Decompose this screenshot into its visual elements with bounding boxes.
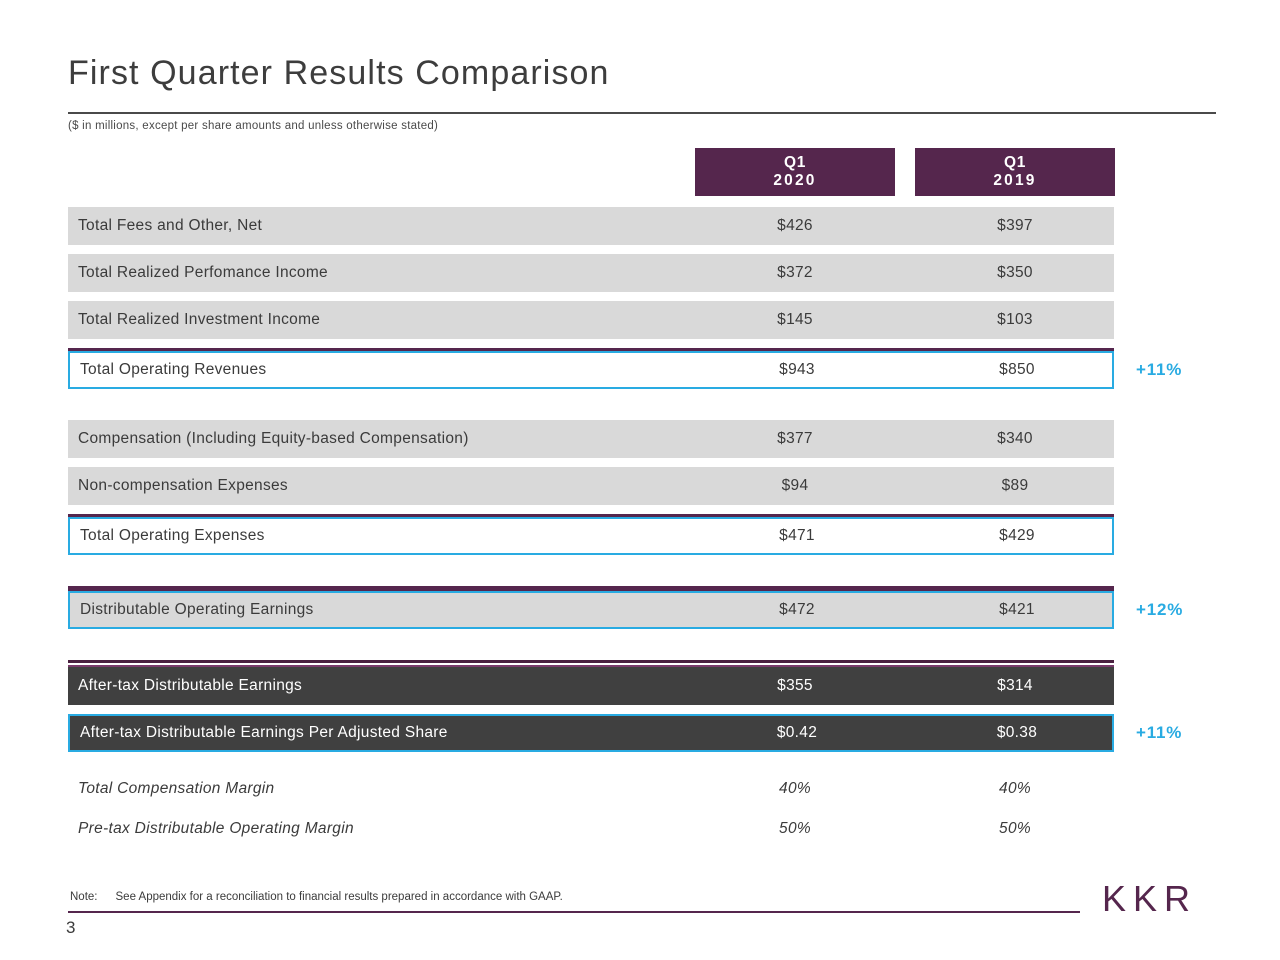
row-label: After-tax Distributable Earnings Per Adj… [80, 724, 448, 742]
table-row-distributable-operating-earnings: Distributable Operating Earnings $472 $4… [68, 591, 1114, 629]
row-value-q1-2020: $377 [695, 430, 895, 448]
row-label: Compensation (Including Equity-based Com… [78, 430, 469, 448]
row-value-q1-2020: $943 [697, 361, 897, 379]
row-label: Pre-tax Distributable Operating Margin [78, 820, 354, 838]
row-value-q1-2020: $355 [695, 677, 895, 695]
table-row-total-operating-expenses: Total Operating Expenses $471 $429 [68, 517, 1114, 555]
column-header-q1-2020: Q1 2020 [695, 148, 895, 196]
table-row: Total Realized Investment Income $145 $1… [68, 301, 1114, 339]
table-row: Compensation (Including Equity-based Com… [68, 420, 1114, 458]
section-spacer [68, 638, 1216, 660]
column-header-quarter: Q1 [784, 154, 806, 172]
row-value-q1-2019: 50% [915, 820, 1115, 838]
row-label: Total Realized Perfomance Income [78, 264, 328, 282]
row-value-q1-2020: $145 [695, 311, 895, 329]
row-value-q1-2019: $397 [915, 217, 1115, 235]
table-row-after-tax-de-per-share: After-tax Distributable Earnings Per Adj… [68, 714, 1114, 752]
row-label: Distributable Operating Earnings [80, 601, 314, 619]
page-number: 3 [66, 918, 75, 938]
title-divider [68, 112, 1216, 114]
section-spacer [68, 564, 1216, 586]
table-row: Non-compensation Expenses $94 $89 [68, 467, 1114, 505]
row-value-q1-2019: $421 [917, 601, 1117, 619]
row-value-q1-2020: $426 [695, 217, 895, 235]
row-value-q1-2020: 50% [695, 820, 895, 838]
table-row: Total Fees and Other, Net $426 $397 [68, 207, 1114, 245]
footnote-text: See Appendix for a reconciliation to fin… [116, 891, 563, 903]
column-header-q1-2019: Q1 2019 [915, 148, 1115, 196]
row-label: Total Realized Investment Income [78, 311, 320, 329]
section-spacer [68, 398, 1216, 420]
row-value-q1-2019: $340 [915, 430, 1115, 448]
column-header-year: 2020 [773, 172, 816, 190]
row-label: After-tax Distributable Earnings [78, 677, 302, 695]
row-delta-badge: +12% [1136, 600, 1183, 620]
row-label: Non-compensation Expenses [78, 477, 288, 495]
units-subtitle: ($ in millions, except per share amounts… [68, 120, 438, 132]
row-value-q1-2019: $429 [917, 527, 1117, 545]
section-divider [68, 660, 1114, 667]
footer-divider [68, 911, 1080, 913]
row-label: Total Operating Expenses [80, 527, 265, 545]
row-delta-badge: +11% [1136, 723, 1182, 743]
table-row-total-compensation-margin: Total Compensation Margin 40% 40% [68, 770, 1114, 808]
column-header-quarter: Q1 [1004, 154, 1026, 172]
row-value-q1-2019: $314 [915, 677, 1115, 695]
footnote-label: Note: [70, 891, 98, 903]
table-row: Total Realized Perfomance Income $372 $3… [68, 254, 1114, 292]
row-value-q1-2019: 40% [915, 780, 1115, 798]
kkr-logo: KKR [1102, 878, 1197, 920]
row-value-q1-2020: $0.42 [697, 724, 897, 742]
row-delta-badge: +11% [1136, 360, 1182, 380]
column-header-year: 2019 [993, 172, 1036, 190]
table-header-row: Q1 2020 Q1 2019 [68, 148, 1114, 196]
row-value-q1-2020: $94 [695, 477, 895, 495]
results-comparison-table: Q1 2020 Q1 2019 Total Fees and Other, Ne… [68, 148, 1216, 850]
section-spacer [68, 761, 1216, 770]
row-value-q1-2019: $89 [915, 477, 1115, 495]
row-value-q1-2020: $372 [695, 264, 895, 282]
table-row-pretax-distributable-operating-margin: Pre-tax Distributable Operating Margin 5… [68, 810, 1114, 848]
row-value-q1-2019: $103 [915, 311, 1115, 329]
row-value-q1-2020: $471 [697, 527, 897, 545]
page-title: First Quarter Results Comparison [68, 54, 610, 93]
footnote: Note:See Appendix for a reconciliation t… [70, 891, 563, 903]
row-value-q1-2020: 40% [695, 780, 895, 798]
row-label: Total Operating Revenues [80, 361, 266, 379]
row-label: Total Compensation Margin [78, 780, 274, 798]
row-value-q1-2020: $472 [697, 601, 897, 619]
table-row-total-operating-revenues: Total Operating Revenues $943 $850 +11% [68, 351, 1114, 389]
row-value-q1-2019: $850 [917, 361, 1117, 379]
row-value-q1-2019: $0.38 [917, 724, 1117, 742]
row-value-q1-2019: $350 [915, 264, 1115, 282]
table-row-after-tax-distributable-earnings: After-tax Distributable Earnings $355 $3… [68, 667, 1114, 705]
row-label: Total Fees and Other, Net [78, 217, 262, 235]
